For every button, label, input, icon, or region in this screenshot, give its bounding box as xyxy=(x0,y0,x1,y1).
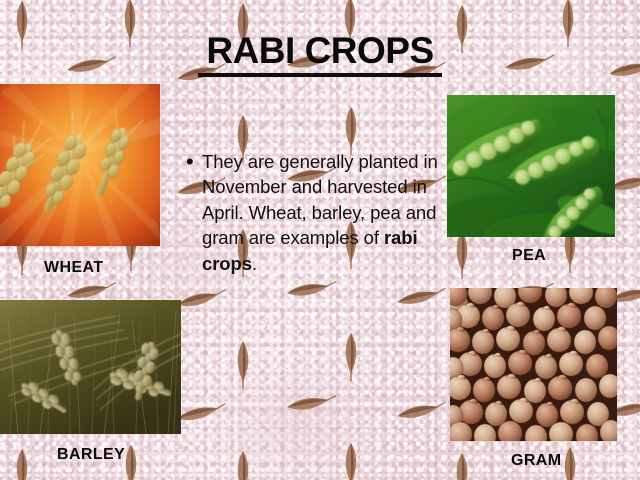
slide-title-text: RABI CROPS xyxy=(198,32,441,77)
slide-title: RABI CROPS xyxy=(0,32,640,77)
photo-wheat xyxy=(0,84,160,246)
photo-pea xyxy=(447,95,615,237)
body-paragraph-tail: . xyxy=(252,253,257,274)
caption-barley: BARLEY xyxy=(57,446,125,464)
caption-pea: PEA xyxy=(512,247,546,265)
photo-pea-image xyxy=(447,95,615,237)
body-paragraph: They are generally planted in November a… xyxy=(202,149,440,276)
caption-gram: GRAM xyxy=(511,452,561,470)
photo-gram xyxy=(450,288,617,441)
photo-wheat-image xyxy=(0,84,160,246)
photo-gram-image xyxy=(450,288,617,441)
body-bullet-block: • They are generally planted in November… xyxy=(186,149,440,276)
bullet-point-icon: • xyxy=(186,149,202,174)
caption-wheat: WHEAT xyxy=(44,259,103,277)
photo-barley-image xyxy=(0,300,181,434)
photo-barley xyxy=(0,300,181,434)
slide-canvas: RABI CROPS • They are generally planted … xyxy=(0,0,640,480)
